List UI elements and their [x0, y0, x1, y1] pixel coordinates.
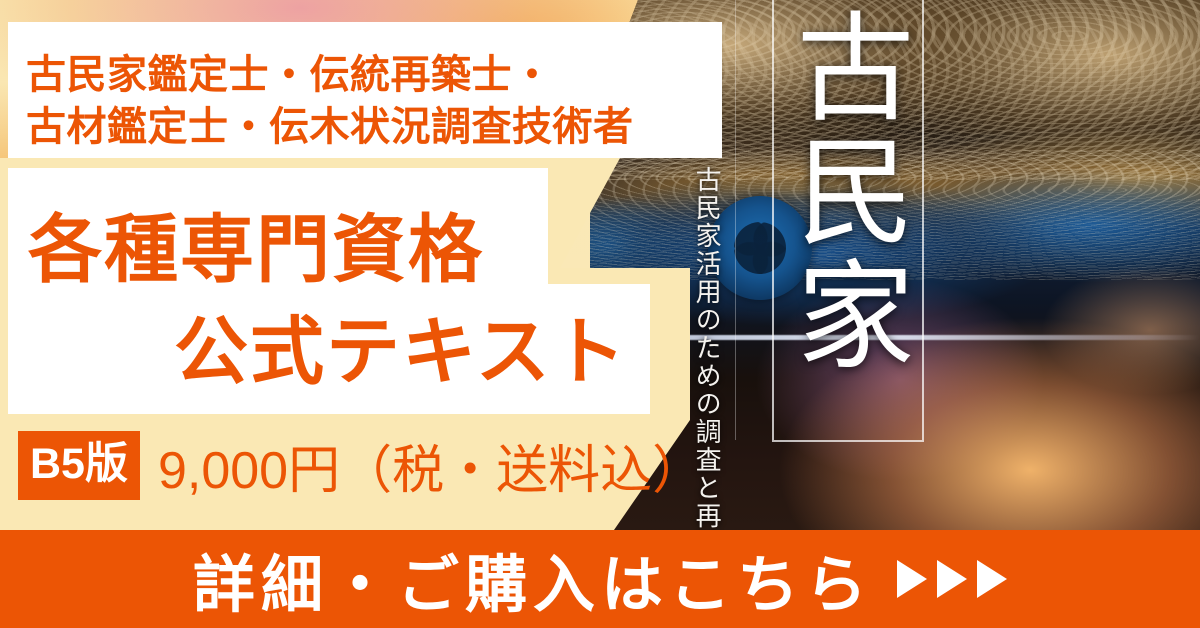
cta-arrows: [897, 560, 1007, 598]
triangle-right-icon: [897, 560, 927, 598]
triangle-right-icon: [937, 560, 967, 598]
cover-frame-rule: [735, 0, 736, 440]
price-amount: 9,000円（税・送料込）: [158, 428, 704, 503]
qualifications-line-2: 古材鑑定士・伝木状況調査技術者: [26, 94, 634, 152]
headline-line-1: 各種専門資格: [28, 190, 484, 297]
book-cover-title: 古民家: [782, 6, 910, 378]
headline-line-2: 公式テキスト: [174, 292, 628, 399]
format-badge: B5版: [18, 431, 140, 500]
qualifications-line-1: 古民家鑑定士・伝統再築士・: [26, 42, 553, 100]
triangle-right-icon: [977, 560, 1007, 598]
cta-bar[interactable]: 詳細・ご購入はこちら: [0, 530, 1200, 628]
promo-banner: 伝統構法 古民家活用のための調査と再生の 古民家 古民家鑑定士・伝統再築士・ 古…: [0, 0, 1200, 628]
qualifications-panel: 古民家鑑定士・伝統再築士・ 古材鑑定士・伝木状況調査技術者: [8, 22, 722, 158]
price-row: B5版 9,000円（税・送料込）: [18, 428, 704, 503]
cta-label: 詳細・ご購入はこちら: [193, 534, 873, 624]
